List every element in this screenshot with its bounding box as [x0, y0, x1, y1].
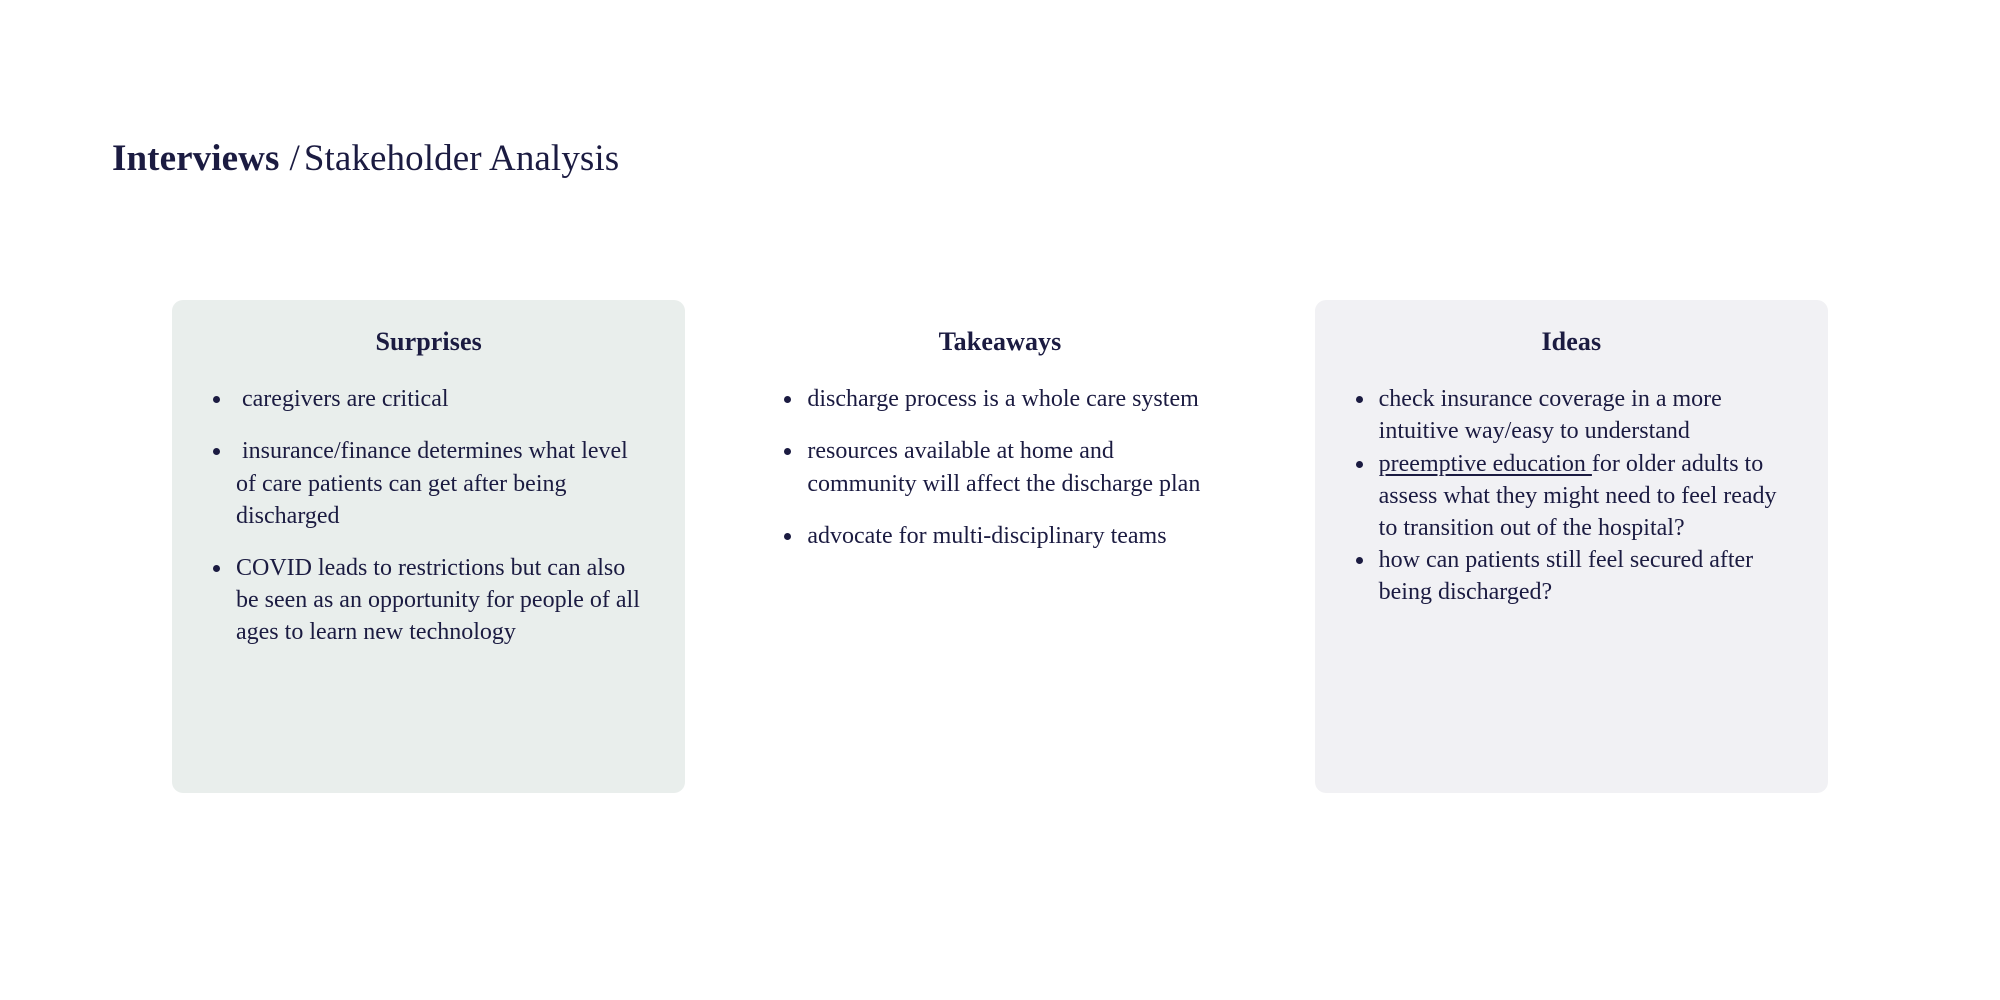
card-heading-takeaways: Takeaways	[777, 326, 1222, 357]
list-item: caregivers are critical	[206, 383, 651, 415]
card-takeaways: Takeaways discharge process is a whole c…	[743, 300, 1256, 793]
card-surprises: Surprises caregivers are critical insura…	[172, 300, 685, 793]
page-title-secondary: Stakeholder Analysis	[304, 138, 619, 179]
page-title: Interviews/Stakeholder Analysis	[112, 136, 619, 182]
page-title-separator: /	[279, 138, 303, 179]
bullet-list-surprises: caregivers are critical insurance/financ…	[206, 383, 651, 648]
list-item: how can patients still feel secured afte…	[1349, 544, 1794, 608]
columns-container: Surprises caregivers are critical insura…	[172, 300, 1828, 793]
page-title-primary: Interviews	[112, 138, 279, 179]
list-item: discharge process is a whole care system	[777, 383, 1222, 415]
list-item: advocate for multi-disciplinary teams	[777, 520, 1222, 552]
bullet-list-ideas: check insurance coverage in a more intui…	[1349, 383, 1794, 608]
list-item: resources available at home and communit…	[777, 435, 1222, 499]
list-item: check insurance coverage in a more intui…	[1349, 383, 1794, 447]
card-ideas: Ideas check insurance coverage in a more…	[1315, 300, 1828, 793]
list-item: preemptive education for older adults to…	[1349, 448, 1794, 544]
card-heading-surprises: Surprises	[206, 326, 651, 357]
list-item: COVID leads to restrictions but can also…	[206, 552, 651, 648]
bullet-list-takeaways: discharge process is a whole care system…	[777, 383, 1222, 552]
emphasis-preemptive-education: preemptive education	[1379, 451, 1592, 477]
list-item: insurance/finance determines what level …	[206, 435, 651, 531]
card-heading-ideas: Ideas	[1349, 326, 1794, 357]
